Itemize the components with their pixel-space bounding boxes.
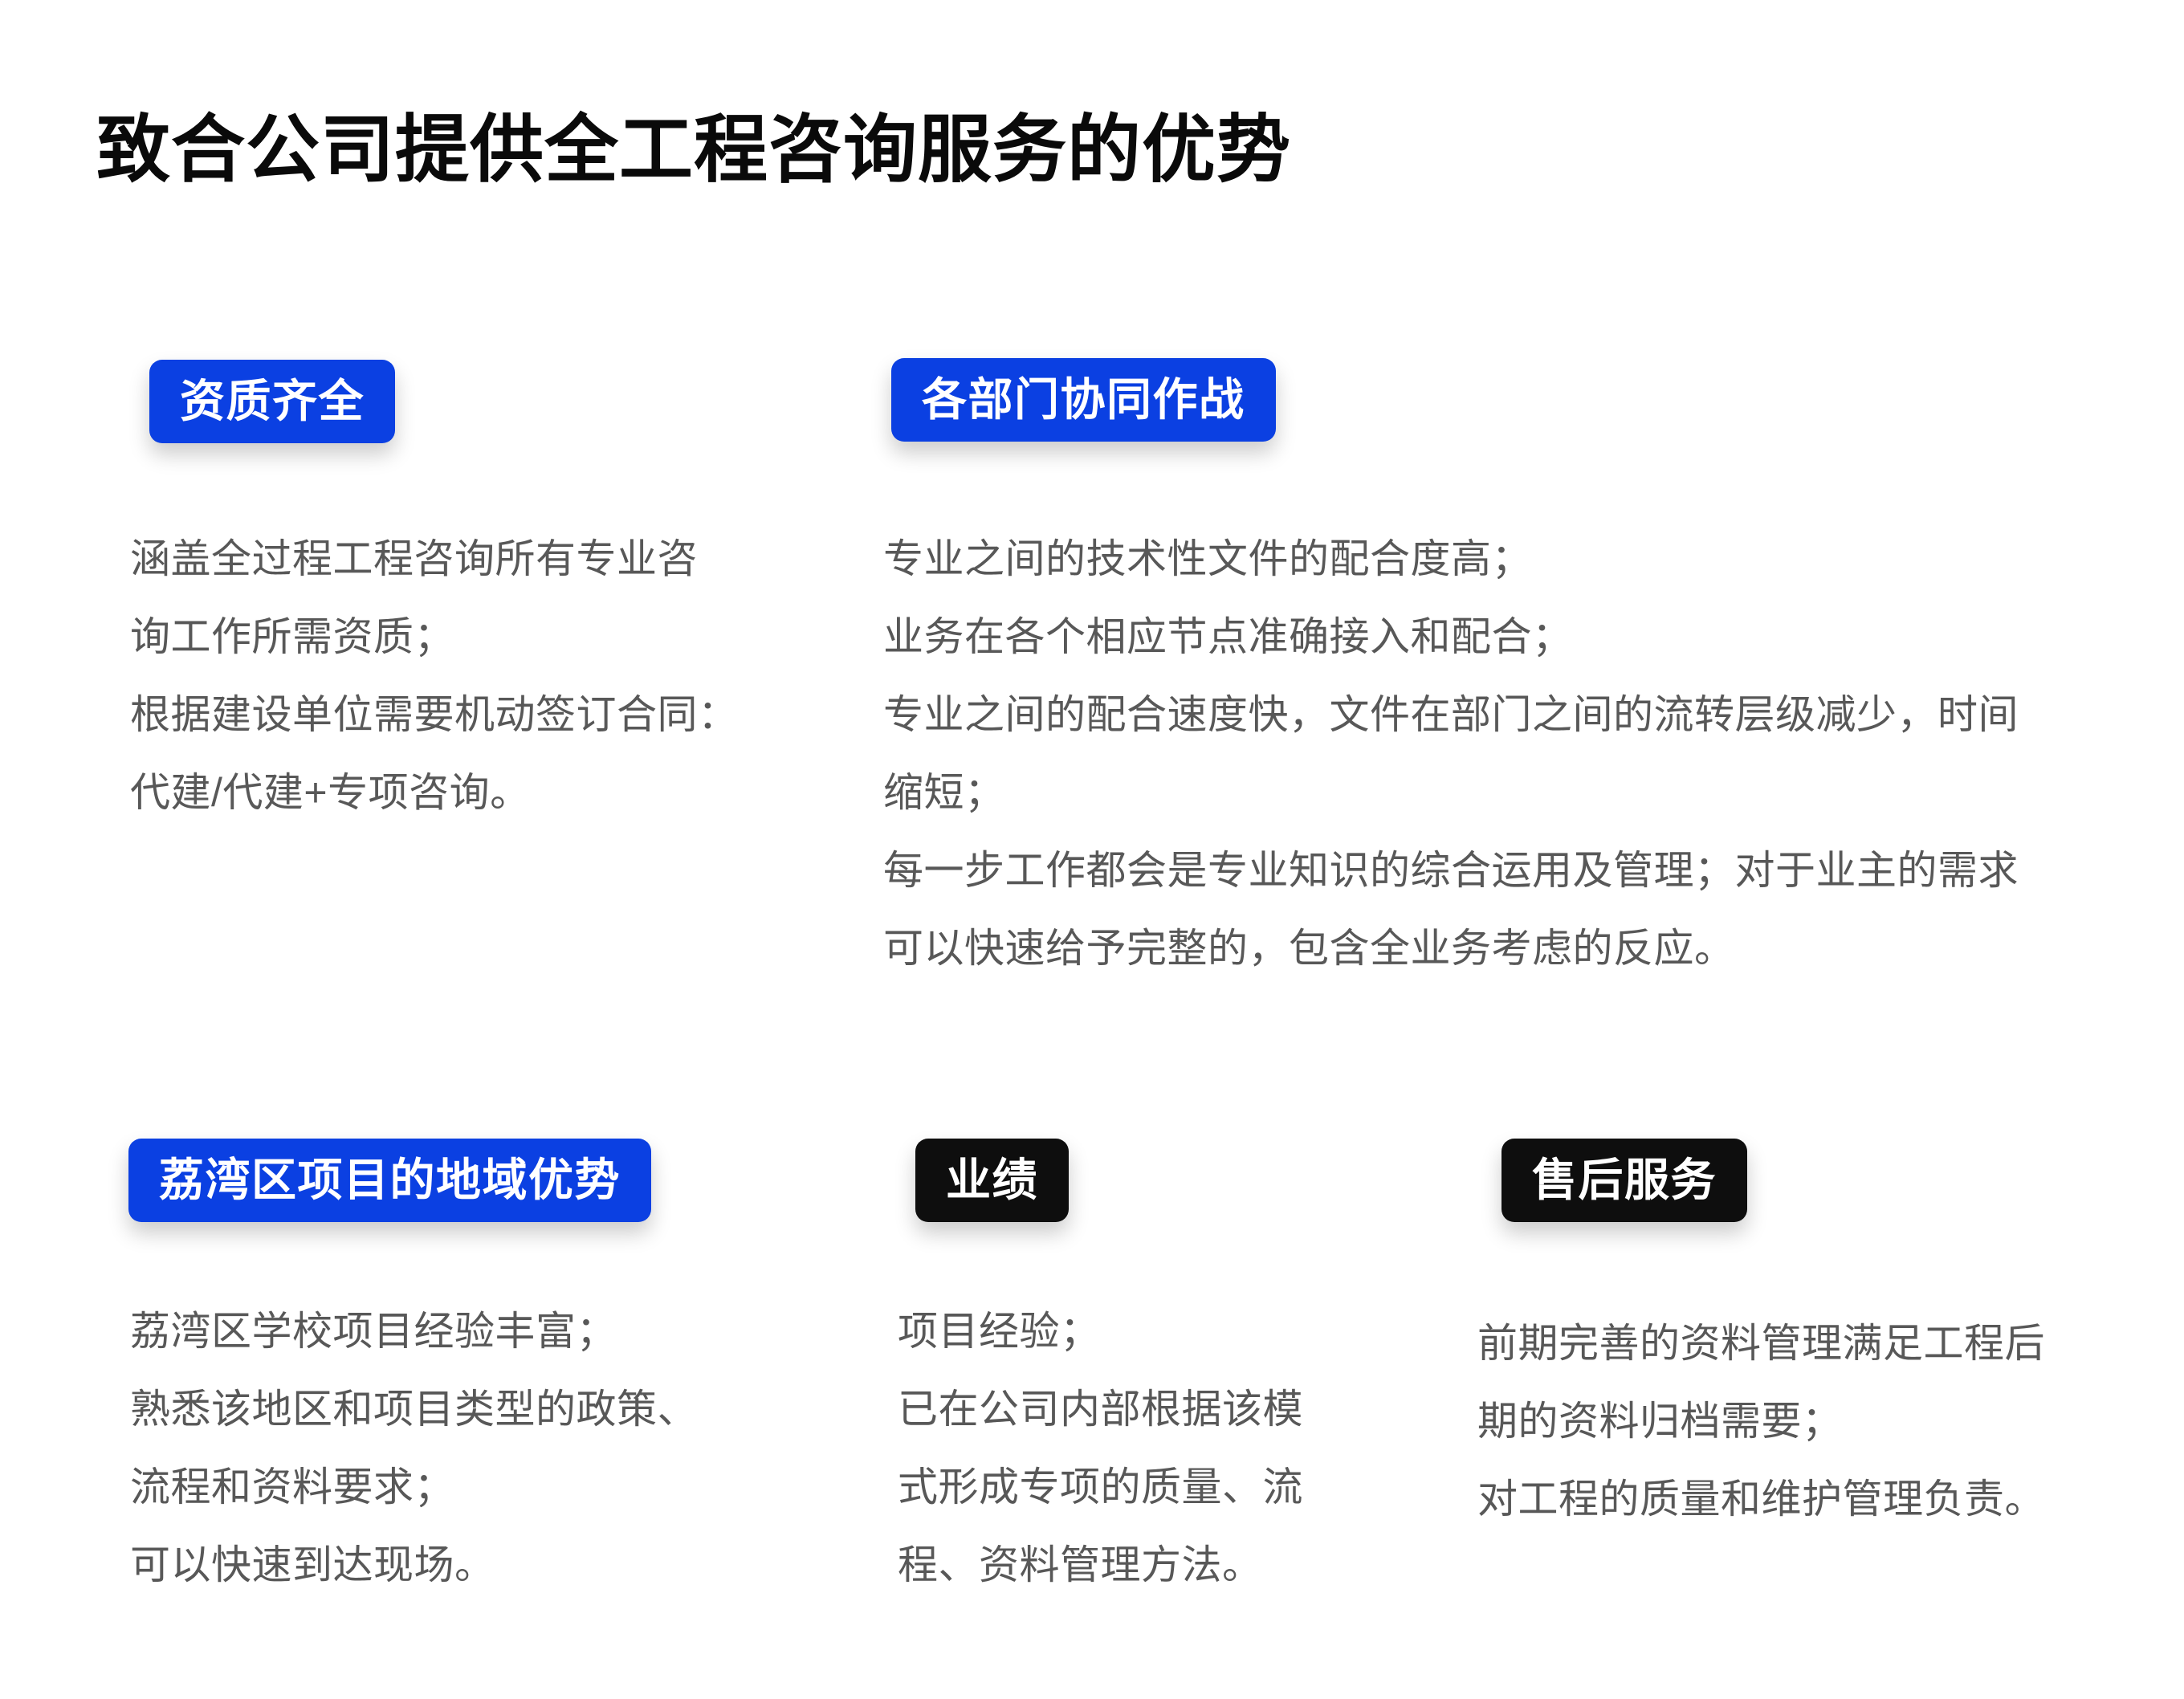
body-line: 业务在各个相应节点准确接入和配合； (883, 598, 2152, 676)
section-body-performance: 项目经验； 已在公司内部根据该模 式形成专项的质量、流 程、资料管理方法。 (898, 1293, 1460, 1604)
body-line: 期的资料归档需要； (1477, 1383, 2160, 1461)
section-body-qualifications: 涵盖全过程工程咨询所有专业咨 询工作所需资质； 根据建设单位需要机动签订合同： … (130, 520, 805, 832)
body-line: 根据建设单位需要机动签订合同： (130, 676, 805, 754)
body-line: 每一步工作都会是专业知识的综合运用及管理；对于业主的需求 (883, 832, 2152, 910)
body-line: 询工作所需资质； (130, 598, 805, 676)
body-line: 涵盖全过程工程咨询所有专业咨 (130, 520, 805, 598)
section-body-liwan-regional-advantage: 荔湾区学校项目经验丰富； 熟悉该地区和项目类型的政策、 流程和资料要求； 可以快… (130, 1293, 797, 1604)
body-line: 对工程的质量和维护管理负责。 (1477, 1461, 2160, 1538)
body-line: 项目经验； (898, 1293, 1460, 1371)
body-line: 可以快速到达现场。 (130, 1526, 797, 1604)
body-line: 代建/代建+专项咨询。 (130, 754, 805, 832)
body-line: 式形成专项的质量、流 (898, 1448, 1460, 1526)
body-line: 前期完善的资料管理满足工程后 (1477, 1305, 2160, 1383)
body-line: 流程和资料要求； (130, 1448, 797, 1526)
body-line: 专业之间的技术性文件的配合度高； (883, 520, 2152, 598)
body-line: 荔湾区学校项目经验丰富； (130, 1293, 797, 1371)
section-badge-department-collaboration[interactable]: 各部门协同作战 (891, 358, 1276, 442)
body-line: 缩短； (883, 754, 2152, 832)
body-line: 程、资料管理方法。 (898, 1526, 1460, 1604)
section-badge-performance[interactable]: 业绩 (915, 1139, 1069, 1222)
body-line: 已在公司内部根据该模 (898, 1371, 1460, 1448)
section-body-after-sales-service: 前期完善的资料管理满足工程后 期的资料归档需要； 对工程的质量和维护管理负责。 (1477, 1305, 2160, 1538)
body-line: 熟悉该地区和项目类型的政策、 (130, 1371, 797, 1448)
section-badge-liwan-regional-advantage[interactable]: 荔湾区项目的地域优势 (128, 1139, 651, 1222)
body-line: 专业之间的配合速度快，文件在部门之间的流转层级减少，时间 (883, 676, 2152, 754)
slide-canvas: 致合公司提供全工程咨询服务的优势 资质齐全 涵盖全过程工程咨询所有专业咨 询工作… (0, 0, 2184, 1699)
section-badge-qualifications[interactable]: 资质齐全 (149, 360, 395, 443)
page-title: 致合公司提供全工程咨询服务的优势 (96, 109, 1291, 192)
section-badge-after-sales-service[interactable]: 售后服务 (1501, 1139, 1747, 1222)
section-body-department-collaboration: 专业之间的技术性文件的配合度高； 业务在各个相应节点准确接入和配合； 专业之间的… (883, 520, 2152, 988)
body-line: 可以快速给予完整的，包含全业务考虑的反应。 (883, 910, 2152, 988)
